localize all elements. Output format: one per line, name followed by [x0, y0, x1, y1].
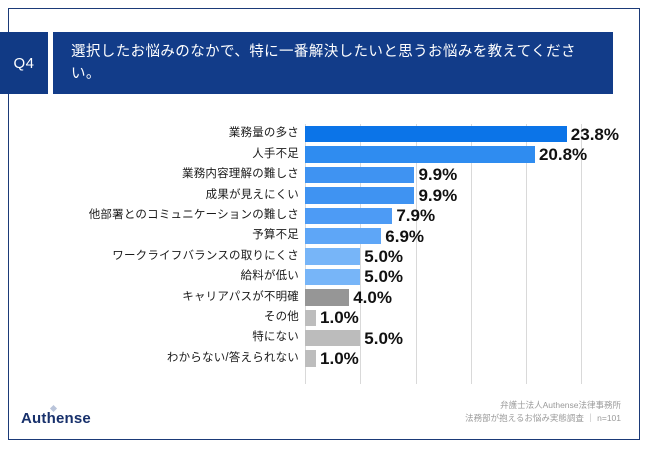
chart-bar-row: ワークライフバランスの取りにくさ5.0% — [305, 246, 619, 266]
bar-value-label: 6.9% — [385, 228, 424, 245]
bar-value-label: 7.9% — [396, 207, 435, 224]
bar — [305, 146, 535, 162]
bar-value-label: 5.0% — [364, 330, 403, 347]
bar — [305, 248, 360, 264]
chart-bar-row: 特にない5.0% — [305, 328, 619, 348]
question-text: 選択したお悩みのなかで、特に一番解決したいと思うお悩みを教えてください。 — [53, 41, 613, 86]
bar-value-label: 9.9% — [418, 166, 457, 183]
category-label: 給料が低い — [241, 271, 300, 283]
bar-chart: 業務量の多さ23.8%人手不足20.8%業務内容理解の難しさ9.9%成果が見えに… — [9, 114, 641, 392]
category-label: 特にない — [252, 332, 299, 344]
question-number-badge: Q4 — [0, 32, 48, 94]
chart-bar-row: キャリアパスが不明確4.0% — [305, 287, 619, 307]
category-label: 業務量の多さ — [229, 128, 299, 140]
category-label: キャリアパスが不明確 — [182, 292, 299, 304]
category-label: 他部署とのコミュニケーションの難しさ — [89, 210, 299, 222]
category-label: 成果が見えにくい — [206, 190, 299, 202]
question-header: Q4 選択したお悩みのなかで、特に一番解決したいと思うお悩みを教えてください。 — [0, 32, 641, 94]
bar-value-label: 4.0% — [353, 289, 392, 306]
bar — [305, 167, 414, 183]
source-credit: 弁護士法人Authense法律事務所 法務部が抱えるお悩み実態調査 ｜ n=10… — [465, 399, 621, 425]
category-label: その他 — [264, 312, 299, 324]
category-label: 予算不足 — [252, 230, 299, 242]
category-label: 人手不足 — [252, 149, 299, 161]
bar-value-label: 20.8% — [539, 146, 587, 163]
bar — [305, 330, 360, 346]
bar — [305, 289, 349, 305]
question-text-box: 選択したお悩みのなかで、特に一番解決したいと思うお悩みを教えてください。 — [53, 32, 613, 94]
category-label: 業務内容理解の難しさ — [182, 169, 299, 181]
chart-bar-row: 業務内容理解の難しさ9.9% — [305, 165, 619, 185]
category-label: ワークライフバランスの取りにくさ — [112, 251, 299, 263]
bar — [305, 269, 360, 285]
bar-value-label: 5.0% — [364, 248, 403, 265]
bar — [305, 350, 316, 366]
category-label: わからない/答えられない — [167, 353, 299, 365]
chart-bar-row: 予算不足6.9% — [305, 226, 619, 246]
bar — [305, 310, 316, 326]
bar-value-label: 1.0% — [320, 309, 359, 326]
chart-bar-row: 人手不足20.8% — [305, 144, 619, 164]
chart-bar-rows: 業務量の多さ23.8%人手不足20.8%業務内容理解の難しさ9.9%成果が見えに… — [305, 124, 619, 384]
bar — [305, 228, 381, 244]
chart-bar-row: 給料が低い5.0% — [305, 267, 619, 287]
chart-bar-row: 他部署とのコミュニケーションの難しさ7.9% — [305, 206, 619, 226]
chart-bar-row: 業務量の多さ23.8% — [305, 124, 619, 144]
bar — [305, 187, 414, 203]
slide-frame: Q4 選択したお悩みのなかで、特に一番解決したいと思うお悩みを教えてください。 … — [8, 8, 640, 440]
source-line-2: 法務部が抱えるお悩み実態調査 ｜ n=101 — [465, 412, 621, 425]
bar — [305, 126, 567, 142]
logo-dot-icon — [50, 405, 57, 412]
bar-value-label: 1.0% — [320, 350, 359, 367]
chart-bar-row: 成果が見えにくい9.9% — [305, 185, 619, 205]
authense-logo: Authense — [21, 410, 91, 427]
source-line-1: 弁護士法人Authense法律事務所 — [465, 399, 621, 412]
chart-bar-row: その他1.0% — [305, 308, 619, 328]
bar-value-label: 5.0% — [364, 268, 403, 285]
bar-value-label: 9.9% — [418, 187, 457, 204]
bar-value-label: 23.8% — [571, 126, 619, 143]
chart-plot-area: 業務量の多さ23.8%人手不足20.8%業務内容理解の難しさ9.9%成果が見えに… — [305, 124, 619, 384]
bar — [305, 208, 392, 224]
chart-bar-row: わからない/答えられない1.0% — [305, 348, 619, 368]
logo-text: Authense — [21, 410, 91, 427]
